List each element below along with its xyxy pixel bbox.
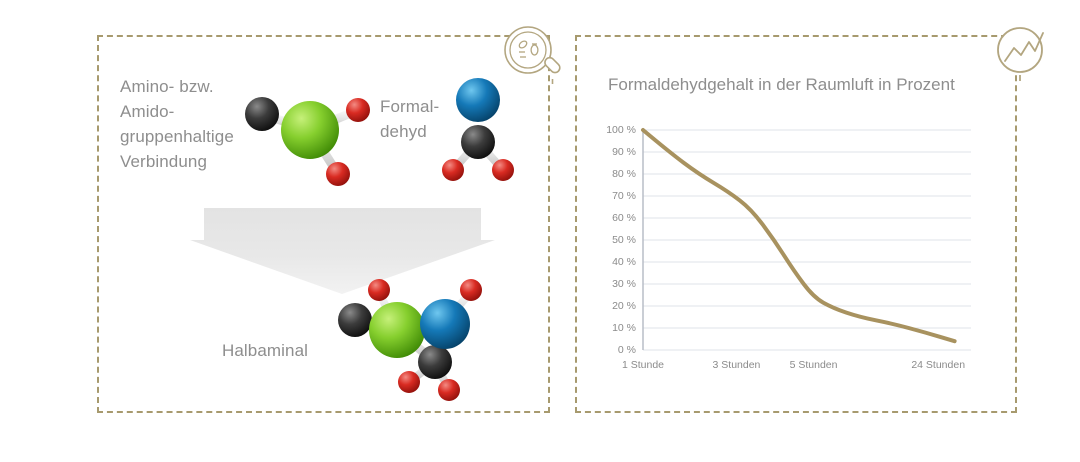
chart-y-tick-label: 40 %: [612, 256, 636, 268]
chart-y-tick-label: 90 %: [612, 146, 636, 158]
chart-y-tick-label: 70 %: [612, 190, 636, 202]
reactant-b-label: Formal- dehyd: [380, 94, 439, 144]
product-label: Halbaminal: [222, 338, 308, 363]
chart-y-tick-label: 60 %: [612, 212, 636, 224]
chart-container: Formaldehydgehalt in der Raumluft in Pro…: [575, 35, 1017, 413]
magnifier-microbe-icon: [502, 24, 564, 86]
chart-data-line: [643, 130, 955, 341]
trend-chart-circle-icon: [991, 24, 1053, 86]
chart-y-tick-label: 20 %: [612, 300, 636, 312]
formaldehyde-molecule: [437, 70, 519, 188]
chart-y-tick-label: 100 %: [606, 124, 636, 136]
chart-x-tick-label: 1 Stunde: [622, 359, 664, 371]
chart-plot-area: 100 %90 %80 %70 %60 %50 %40 %30 %20 %10 …: [643, 130, 971, 350]
chart-y-tick-label: 80 %: [612, 168, 636, 180]
chart-x-tick-label: 5 Stunden: [790, 359, 838, 371]
chart-title: Formaldehydgehalt in der Raumluft in Pro…: [608, 75, 955, 95]
chart-y-tick-label: 50 %: [612, 234, 636, 246]
chart-svg: [643, 130, 971, 350]
chart-x-tick-label: 3 Stunden: [713, 359, 761, 371]
page-root: Amino- bzw. Amido- gruppenhaltige Verbin…: [0, 0, 1080, 462]
chart-y-tick-label: 10 %: [612, 322, 636, 334]
chart-y-tick-label: 30 %: [612, 278, 636, 290]
amino-compound-molecule: [240, 82, 380, 194]
chart-y-tick-label: 0 %: [618, 344, 636, 356]
chart-x-tick-label: 24 Stunden: [911, 359, 965, 371]
reactant-a-label: Amino- bzw. Amido- gruppenhaltige Verbin…: [120, 74, 234, 174]
hemiaminal-molecule: [325, 272, 497, 400]
